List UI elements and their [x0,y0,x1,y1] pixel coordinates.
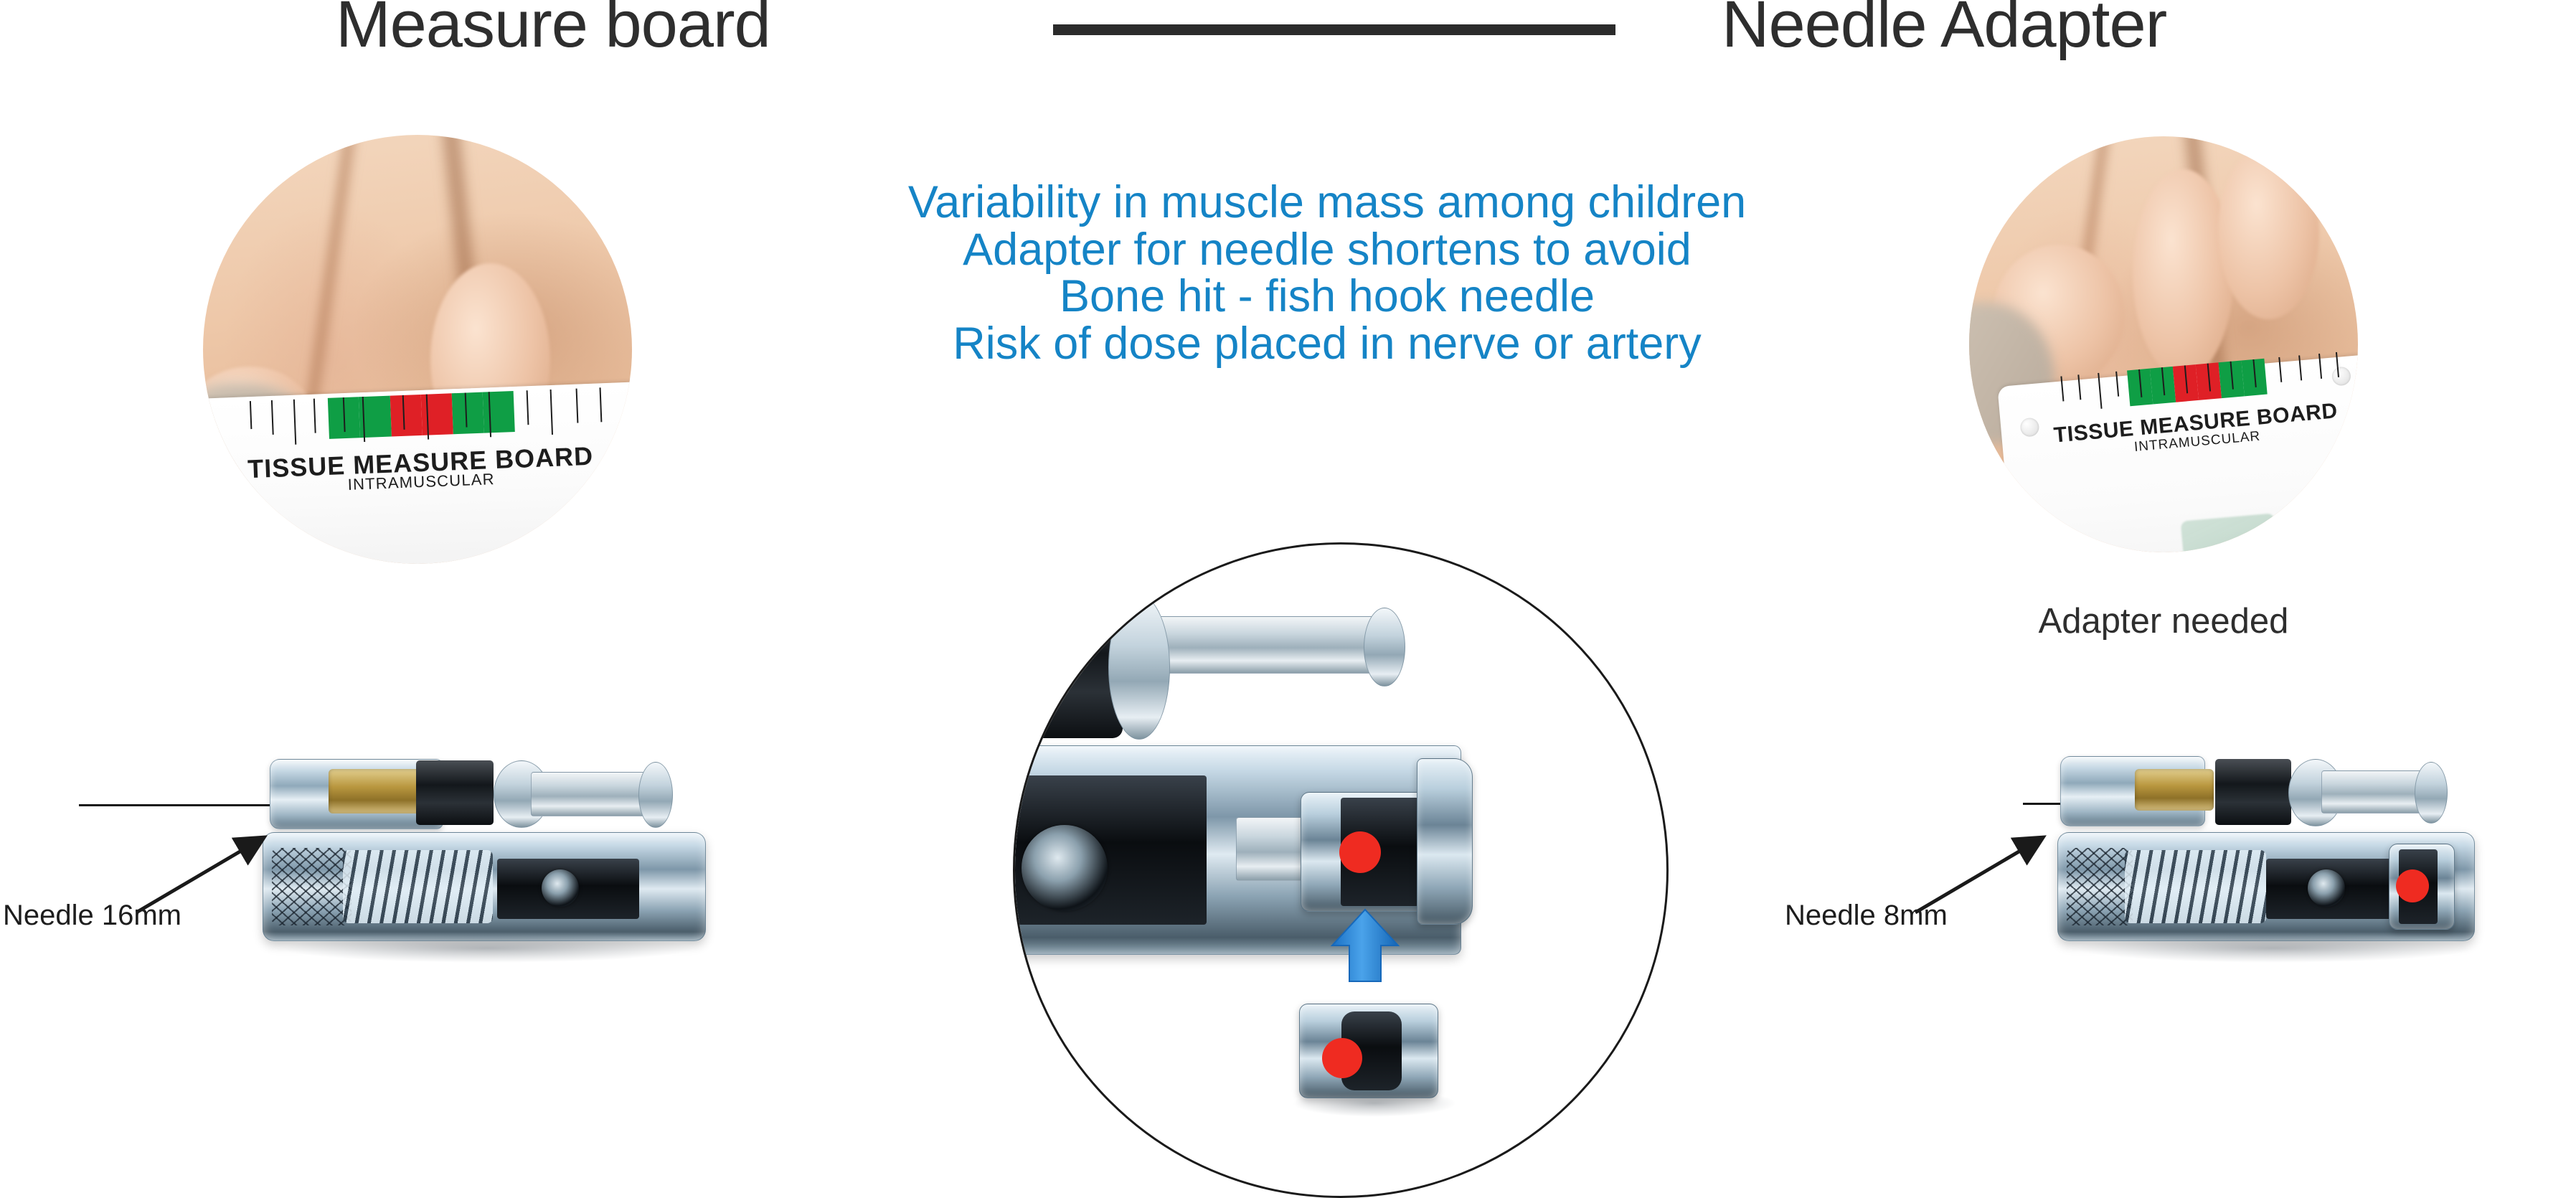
housing-mesh-texture [2067,848,2133,925]
fingertip-middle [2133,169,2234,377]
needle-8mm-label: Needle 8mm [1785,900,1948,932]
release-eyelet [1022,825,1108,911]
autoinjector-device-16mm [201,732,789,968]
plunger-thumb-pad [1364,608,1405,687]
ruler-tick [2098,372,2103,408]
message-line-1: Variability in muscle mass among childre… [746,179,1908,227]
ruler-tick [550,389,553,434]
syringe-collar [2215,759,2291,825]
compression-spring [2125,850,2266,923]
page-title-needle-adapter: Needle Adapter [1722,0,2166,57]
magnified-adapter-detail-circle [1013,542,1669,1198]
syringe-flange [1108,595,1170,740]
caption-adapter-needed: Adapter needed [1969,601,2358,641]
plunger-rod [1159,616,1382,674]
message-line-2: Adapter for needle shortens to avoid [746,227,1908,274]
housing-mesh-texture [272,848,352,925]
release-eyelet [542,869,579,907]
ruler-tick [2336,352,2339,377]
drop-shadow [1292,1090,1457,1117]
syringe-collar [416,760,494,825]
ruler-tick [313,398,316,433]
blister-pack-item [2181,513,2283,552]
release-eyelet [2308,869,2345,907]
scale-segment-red [390,394,422,436]
blue-up-arrow-icon [1328,907,1407,986]
photo-adapter-needed: TISSUE MEASURE BOARD INTRAMUSCULAR [1969,136,2358,552]
plunger-rod [531,772,654,816]
plunger-thumb-pad [638,762,673,828]
needle-16mm-shaft [79,804,273,806]
housing-nose-cap [1417,758,1473,925]
ruler-tick [250,401,252,429]
ruler-tick [2318,354,2322,379]
device-housing [263,832,706,941]
ruler-tick [2115,371,2119,396]
message-line-3: Bone hit - fish hook needle [746,273,1908,321]
drop-shadow [2073,934,2475,963]
key-message-block: Variability in muscle mass among childre… [746,179,1908,367]
tissue-measure-board-card: TISSUE MEASURE BOARD INTRAMUSCULAR [1998,353,2358,552]
title-divider-rule [1053,24,1615,35]
ruler-tick [293,399,296,444]
photo-measure-board-on-skin: TISSUE MEASURE BOARD INTRAMUSCULAR [203,135,632,564]
needle-adapter-detached [1299,1004,1438,1098]
syringe-collar [1013,602,1123,738]
needle-16mm-label: Needle 16mm [3,900,181,932]
fingertip-right [2218,145,2319,320]
ruler-tick [2279,357,2283,382]
red-dot-marker [2396,869,2429,902]
ruler-tick [527,390,529,425]
ruler-tick [599,387,602,422]
tissue-measure-board-card: TISSUE MEASURE BOARD INTRAMUSCULAR [203,380,632,564]
autoinjector-device-8mm [2009,732,2575,968]
compression-spring [343,850,493,923]
drug-cartridge [2135,769,2214,811]
ruler-tick [575,388,578,423]
message-line-4: Risk of dose placed in nerve or artery [746,321,1908,368]
red-dot-marker [1322,1038,1362,1078]
ruler-tick [2299,355,2303,380]
page-title-measure-board: Measure board [336,0,770,57]
scale-segment-green [452,392,484,434]
red-dot-marker [1339,831,1381,873]
drop-shadow [280,934,696,963]
ruler-tick [271,400,274,434]
plunger-thumb-pad [2415,762,2448,824]
drug-cartridge [329,769,422,813]
measure-scale [246,387,612,442]
ruler-tick [2061,376,2065,401]
ruler-tick [2078,374,2082,400]
